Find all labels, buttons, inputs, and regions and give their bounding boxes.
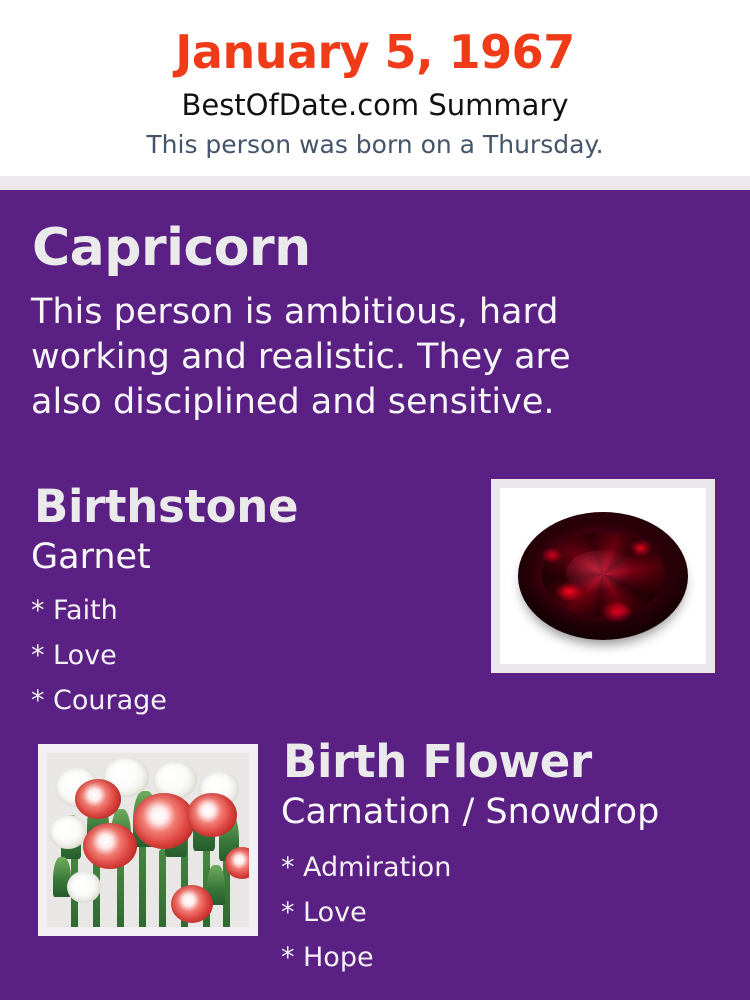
- birth-flower-trait-list: *Admiration *Love *Hope: [281, 845, 721, 980]
- birth-flower-name: Carnation / Snowdrop: [281, 790, 659, 834]
- asterisk-bullet-icon: *: [31, 633, 53, 678]
- birth-flower-image-frame: [38, 744, 258, 936]
- list-item: *Love: [31, 633, 451, 678]
- birth-flower-heading: Birth Flower: [283, 735, 592, 789]
- summary-card: January 5, 1967 BestOfDate.com Summary T…: [0, 0, 750, 1000]
- details-panel: Capricorn This person is ambitious, hard…: [0, 190, 750, 1000]
- birthstone-trait-label: Faith: [53, 595, 118, 626]
- birthstone-image-frame: [491, 479, 715, 673]
- birthstone-name: Garnet: [31, 535, 151, 579]
- birth-flower-trait-label: Admiration: [303, 852, 451, 883]
- garnet-gem-icon: [518, 512, 688, 640]
- list-item: *Hope: [281, 935, 721, 980]
- asterisk-bullet-icon: *: [31, 588, 53, 633]
- birth-flower-trait-label: Hope: [303, 942, 374, 973]
- birthstone-heading: Birthstone: [34, 480, 298, 534]
- birthstone-trait-label: Courage: [53, 685, 167, 716]
- birthstone-trait-list: *Faith *Love *Courage: [31, 588, 451, 723]
- asterisk-bullet-icon: *: [281, 890, 303, 935]
- list-item: *Courage: [31, 678, 451, 723]
- birthstone-trait-label: Love: [53, 640, 117, 671]
- zodiac-sign-name: Capricorn: [32, 217, 311, 279]
- weekday-note: This person was born on a Thursday.: [0, 129, 750, 161]
- header-divider: [0, 176, 750, 190]
- list-item: *Faith: [31, 588, 451, 633]
- list-item: *Admiration: [281, 845, 721, 890]
- zodiac-description: This person is ambitious, hard working a…: [31, 290, 649, 425]
- asterisk-bullet-icon: *: [281, 935, 303, 980]
- birth-flower-trait-label: Love: [303, 897, 367, 928]
- page-title: January 5, 1967: [0, 23, 750, 81]
- list-item: *Love: [281, 890, 721, 935]
- asterisk-bullet-icon: *: [31, 678, 53, 723]
- birth-flower-image: [47, 753, 249, 927]
- site-subtitle: BestOfDate.com Summary: [0, 87, 750, 123]
- asterisk-bullet-icon: *: [281, 845, 303, 890]
- header: January 5, 1967 BestOfDate.com Summary T…: [0, 0, 750, 176]
- birthstone-image: [500, 488, 706, 664]
